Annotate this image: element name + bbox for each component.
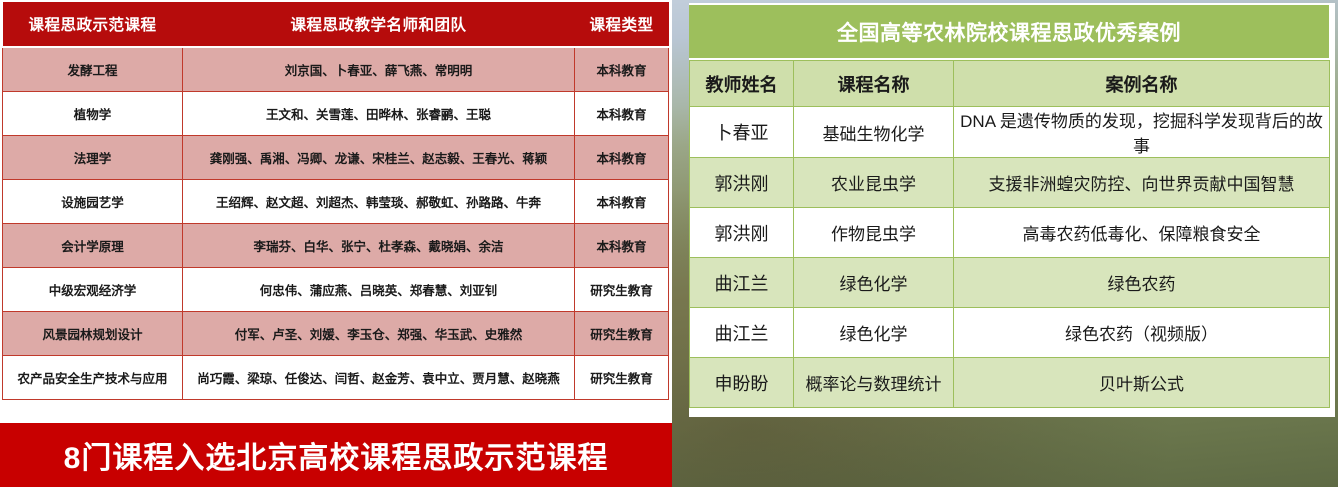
cell-team: 王绍辉、赵文超、刘超杰、韩莹琰、郝敬虹、孙路路、牛奔	[183, 179, 575, 223]
cell-course: 绿色化学	[794, 258, 954, 308]
cell-team: 王文和、关雪莲、田晔林、张睿鹂、王聪	[183, 91, 575, 135]
table-row: 郭洪刚 作物昆虫学 高毒农药低毒化、保障粮食安全	[690, 208, 1330, 258]
cell-course: 植物学	[3, 91, 183, 135]
cell-teacher: 郭洪刚	[690, 208, 794, 258]
left-header-row: 课程思政示范课程 课程思政教学名师和团队 课程类型	[3, 2, 669, 47]
right-panel: 全国高等农林院校课程思政优秀案例 教师姓名 课程名称 案例名称 卜春亚 基础生物…	[681, 0, 1338, 487]
cell-teacher: 卜春亚	[690, 107, 794, 158]
cell-course: 风景园林规划设计	[3, 311, 183, 355]
cell-case: 绿色农药	[954, 258, 1330, 308]
cell-course: 绿色化学	[794, 308, 954, 358]
left-panel: 课程思政示范课程 课程思政教学名师和团队 课程类型 发酵工程 刘京国、卜春亚、薛…	[0, 0, 672, 487]
cell-type: 研究生教育	[575, 311, 669, 355]
right-table-head: 教师姓名 课程名称 案例名称	[690, 61, 1330, 107]
left-table-head: 课程思政示范课程 课程思政教学名师和团队 课程类型	[3, 2, 669, 47]
cell-type: 本科教育	[575, 47, 669, 91]
cell-course: 会计学原理	[3, 223, 183, 267]
cell-team: 刘京国、卜春亚、薛飞燕、常明明	[183, 47, 575, 91]
left-col-header-team: 课程思政教学名师和团队	[183, 2, 575, 47]
left-table-body: 发酵工程 刘京国、卜春亚、薛飞燕、常明明 本科教育 植物学 王文和、关雪莲、田晔…	[3, 47, 669, 399]
cell-course: 发酵工程	[3, 47, 183, 91]
table-row: 风景园林规划设计 付军、卢圣、刘媛、李玉仓、郑强、华玉武、史雅然 研究生教育	[3, 311, 669, 355]
cell-course: 基础生物化学	[794, 107, 954, 158]
cell-course: 作物昆虫学	[794, 208, 954, 258]
cell-course: 农业昆虫学	[794, 158, 954, 208]
table-row: 设施园艺学 王绍辉、赵文超、刘超杰、韩莹琰、郝敬虹、孙路路、牛奔 本科教育	[3, 179, 669, 223]
cell-teacher: 郭洪刚	[690, 158, 794, 208]
table-row: 卜春亚 基础生物化学 DNA 是遗传物质的发现，挖掘科学发现背后的故事	[690, 107, 1330, 158]
cell-team: 龚刚强、禹湘、冯卿、龙谦、宋桂兰、赵志毅、王春光、蒋颖	[183, 135, 575, 179]
demonstration-courses-table: 课程思政示范课程 课程思政教学名师和团队 课程类型 发酵工程 刘京国、卜春亚、薛…	[2, 2, 669, 400]
cell-team: 李瑞芬、白华、张宁、杜孝森、戴晓娟、余洁	[183, 223, 575, 267]
cell-course: 概率论与数理统计	[794, 358, 954, 408]
excellent-cases-table: 教师姓名 课程名称 案例名称 卜春亚 基础生物化学 DNA 是遗传物质的发现，挖…	[689, 60, 1330, 408]
cell-case: 贝叶斯公式	[954, 358, 1330, 408]
slide-root: 课程思政示范课程 课程思政教学名师和团队 课程类型 发酵工程 刘京国、卜春亚、薛…	[0, 0, 1338, 487]
table-row: 会计学原理 李瑞芬、白华、张宁、杜孝森、戴晓娟、余洁 本科教育	[3, 223, 669, 267]
table-row: 申盼盼 概率论与数理统计 贝叶斯公式	[690, 358, 1330, 408]
right-panel-title-text: 全国高等农林院校课程思政优秀案例	[837, 17, 1181, 47]
table-row: 植物学 王文和、关雪莲、田晔林、张睿鹂、王聪 本科教育	[3, 91, 669, 135]
right-col-header-course: 课程名称	[794, 61, 954, 107]
cell-course: 设施园艺学	[3, 179, 183, 223]
cell-case: 绿色农药（视频版）	[954, 308, 1330, 358]
cell-type: 本科教育	[575, 135, 669, 179]
cell-teacher: 曲江兰	[690, 308, 794, 358]
cell-type: 本科教育	[575, 91, 669, 135]
left-table-container: 课程思政示范课程 课程思政教学名师和团队 课程类型 发酵工程 刘京国、卜春亚、薛…	[0, 0, 672, 419]
cell-team: 尚巧霞、梁琼、任俊达、闫哲、赵金芳、袁中立、贾月慧、赵晓燕	[183, 355, 575, 399]
table-row: 郭洪刚 农业昆虫学 支援非洲蝗灾防控、向世界贡献中国智慧	[690, 158, 1330, 208]
cell-teacher: 申盼盼	[690, 358, 794, 408]
cell-team: 付军、卢圣、刘媛、李玉仓、郑强、华玉武、史雅然	[183, 311, 575, 355]
cell-team: 何忠伟、蒲应燕、吕晓英、郑春慧、刘亚钊	[183, 267, 575, 311]
cell-case: 支援非洲蝗灾防控、向世界贡献中国智慧	[954, 158, 1330, 208]
table-row: 法理学 龚刚强、禹湘、冯卿、龙谦、宋桂兰、赵志毅、王春光、蒋颖 本科教育	[3, 135, 669, 179]
cell-case: DNA 是遗传物质的发现，挖掘科学发现背后的故事	[954, 107, 1330, 158]
cell-type: 本科教育	[575, 179, 669, 223]
cell-teacher: 曲江兰	[690, 258, 794, 308]
left-col-header-course: 课程思政示范课程	[3, 2, 183, 47]
cell-course: 中级宏观经济学	[3, 267, 183, 311]
right-table-body: 卜春亚 基础生物化学 DNA 是遗传物质的发现，挖掘科学发现背后的故事 郭洪刚 …	[690, 107, 1330, 408]
table-row: 曲江兰 绿色化学 绿色农药（视频版）	[690, 308, 1330, 358]
left-caption-text: 8门课程入选北京高校课程思政示范课程	[64, 433, 609, 477]
right-panel-title: 全国高等农林院校课程思政优秀案例	[689, 5, 1329, 58]
cell-course: 法理学	[3, 135, 183, 179]
left-col-header-type: 课程类型	[575, 2, 669, 47]
table-row: 曲江兰 绿色化学 绿色农药	[690, 258, 1330, 308]
left-caption-banner: 8门课程入选北京高校课程思政示范课程	[0, 423, 672, 487]
cell-case: 高毒农药低毒化、保障粮食安全	[954, 208, 1330, 258]
right-header-row: 教师姓名 课程名称 案例名称	[690, 61, 1330, 107]
table-row: 农产品安全生产技术与应用 尚巧霞、梁琼、任俊达、闫哲、赵金芳、袁中立、贾月慧、赵…	[3, 355, 669, 399]
table-row: 发酵工程 刘京国、卜春亚、薛飞燕、常明明 本科教育	[3, 47, 669, 91]
cell-type: 研究生教育	[575, 267, 669, 311]
cell-type: 本科教育	[575, 223, 669, 267]
right-col-header-teacher: 教师姓名	[690, 61, 794, 107]
cell-course: 农产品安全生产技术与应用	[3, 355, 183, 399]
cell-type: 研究生教育	[575, 355, 669, 399]
right-col-header-case: 案例名称	[954, 61, 1330, 107]
table-row: 中级宏观经济学 何忠伟、蒲应燕、吕晓英、郑春慧、刘亚钊 研究生教育	[3, 267, 669, 311]
